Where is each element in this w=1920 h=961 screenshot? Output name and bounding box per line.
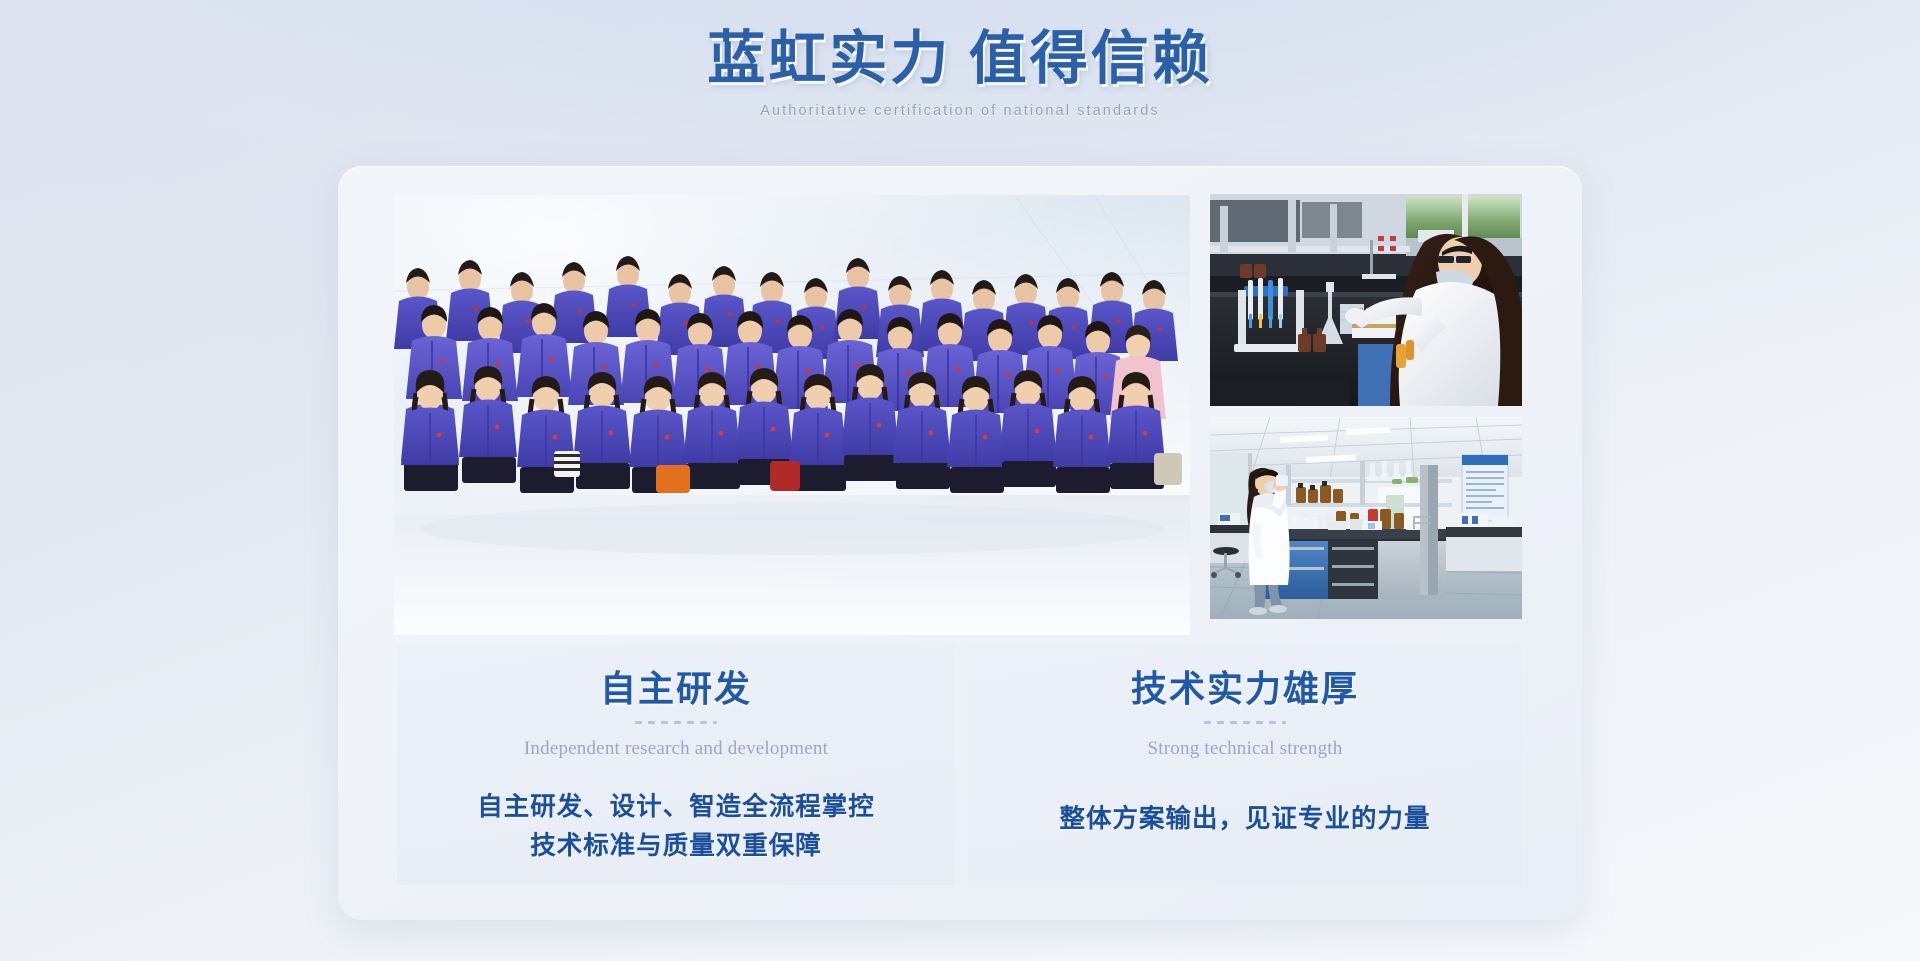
lab-room-art	[1210, 417, 1522, 619]
card-description: 整体方案输出，见证专业的力量	[968, 800, 1522, 839]
info-card-technical-strength: 技术实力雄厚 Strong technical strength 整体方案输出，…	[968, 645, 1522, 885]
card-title: 技术实力雄厚	[968, 667, 1522, 712]
page-subtitle: Authoritative certification of national …	[0, 103, 1920, 119]
card-subtitle-en: Independent research and development	[397, 738, 955, 760]
dash-divider	[968, 721, 1522, 724]
laboratory-room-photo	[1210, 417, 1522, 619]
card-subtitle-en: Strong technical strength	[968, 738, 1522, 760]
promo-section: 蓝虹实力 值得信赖 Authoritative certification of…	[0, 0, 1920, 961]
card-description: 自主研发、设计、智造全流程掌控 技术标准与质量双重保障	[397, 788, 955, 866]
card-description-line: 整体方案输出，见证专业的力量	[968, 800, 1522, 839]
section-heading: 蓝虹实力 值得信赖 Authoritative certification of…	[0, 26, 1920, 119]
info-card-independent-rnd: 自主研发 Independent research and developmen…	[397, 645, 955, 885]
page-title: 蓝虹实力 值得信赖	[0, 26, 1920, 93]
dash-divider	[397, 721, 955, 724]
team-group-photo	[394, 195, 1190, 635]
lab-technician-art	[1210, 194, 1522, 406]
card-description-line: 自主研发、设计、智造全流程掌控	[397, 788, 955, 827]
laboratory-technician-photo	[1210, 194, 1522, 406]
card-description-line: 技术标准与质量双重保障	[397, 827, 955, 866]
card-title: 自主研发	[397, 667, 955, 712]
team-photo-art	[394, 195, 1190, 635]
